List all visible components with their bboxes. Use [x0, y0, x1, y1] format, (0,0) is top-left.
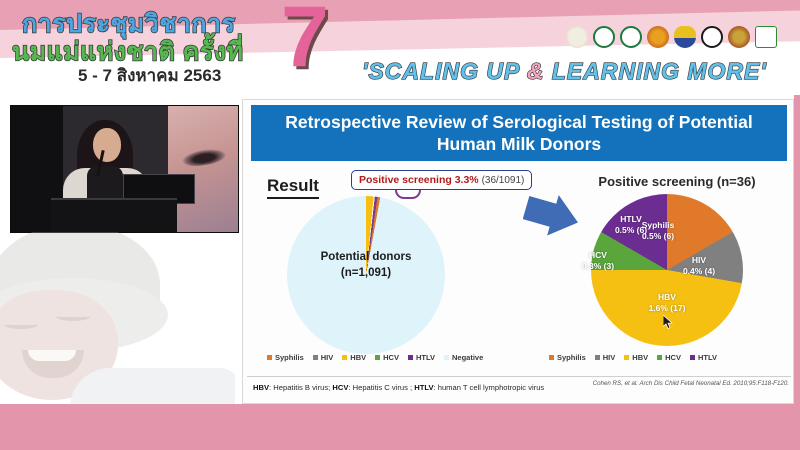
legend2-swatch-htlv: [690, 355, 695, 360]
legend-item-htlv: HTLV: [408, 353, 435, 362]
logo-garuda-emblem-icon: [674, 26, 696, 48]
footnote-hbv-text: : Hepatitis B virus;: [269, 383, 332, 392]
baby-eye-right: [56, 312, 90, 321]
presenter-video-feed[interactable]: [10, 105, 239, 233]
blue-arrow-icon: [523, 192, 581, 238]
legend2-item-syphilis: Syphilis: [549, 353, 586, 362]
legend2-swatch-syphilis: [549, 355, 554, 360]
baby-watermark-image: [0, 232, 235, 428]
video-projected-screen: [168, 106, 238, 233]
pie-slice-label-hcv: HCV 0.3% (3): [573, 250, 623, 272]
footnote-htlv-text: : human T cell lymphotropic virus: [434, 383, 545, 392]
projected-eye-closeup: [181, 147, 227, 169]
legend2-item-hcv: HCV: [657, 353, 681, 362]
conference-header-banner: การประชุมวิชาการ นมแม่แห่งชาติ ครั้งที่ …: [0, 0, 800, 95]
conference-edition-number: 7: [281, 0, 329, 80]
slice-value-hiv: 0.4% (4): [671, 266, 727, 277]
callout-brace-icon: [395, 190, 421, 199]
tagline-part1: 'SCALING UP: [362, 58, 527, 84]
slice-name-hbv: HBV: [625, 292, 709, 303]
legend-item-syphilis: Syphilis: [267, 353, 304, 362]
legend-potential-donors: Syphilis HIV HBV HCV HTLV Negative: [267, 353, 483, 362]
legend-item-hbv: HBV: [342, 353, 366, 362]
logo-red-crest-icon: [728, 26, 750, 48]
slice-value-htlv: 0.5% (6): [603, 225, 659, 236]
legend-item-hiv: HIV: [313, 353, 334, 362]
legend-label-negative: Negative: [452, 353, 483, 362]
legend-label-hiv: HIV: [321, 353, 334, 362]
footnote-hcv-text: : Hepatitis C virus ;: [348, 383, 414, 392]
legend2-item-hbv: HBV: [624, 353, 648, 362]
footnote-hbv-label: HBV: [253, 383, 269, 392]
logo-green-health-1-icon: [593, 26, 615, 48]
logo-green-health-2-icon: [620, 26, 642, 48]
legend-positive-screening: Syphilis HIV HBV HCV HTLV: [549, 353, 717, 362]
legend-swatch-syphilis: [267, 355, 272, 360]
tagline-ampersand: &: [527, 58, 545, 84]
legend2-item-hiv: HIV: [595, 353, 616, 362]
legend-item-negative: Negative: [444, 353, 483, 362]
legend-swatch-hbv: [342, 355, 347, 360]
podium: [51, 198, 177, 233]
positive-screening-callout: Positive screening 3.3% (36/1091): [351, 170, 532, 190]
positive-screening-pie-title: Positive screening (n=36): [561, 174, 793, 189]
slice-name-hcv: HCV: [573, 250, 623, 261]
footnote-htlv-label: HTLV: [414, 383, 433, 392]
legend-swatch-hcv: [375, 355, 380, 360]
logo-orange-emblem-icon: [647, 26, 669, 48]
conference-tagline: 'SCALING UP & LEARNING MORE': [362, 58, 767, 85]
potential-donors-title: Potential donors: [287, 250, 445, 266]
presentation-slide: Retrospective Review of Serological Test…: [242, 99, 794, 404]
frame-right-pink: [794, 95, 800, 450]
legend2-swatch-hcv: [657, 355, 662, 360]
slice-name-hiv: HIV: [671, 255, 727, 266]
callout-fraction: (36/1091): [482, 175, 525, 186]
potential-donors-subtitle: (n=1,091): [287, 266, 445, 282]
footnote-hcv-label: HCV: [332, 383, 348, 392]
slide-title: Retrospective Review of Serological Test…: [251, 105, 787, 161]
pie-slice-label-htlv: HTLV 0.5% (6): [603, 214, 659, 236]
callout-text: Positive screening 3.3%: [359, 174, 479, 186]
pie-slice-label-hbv: HBV 1.6% (17): [625, 292, 709, 314]
logo-thaihealth-sss-icon: [755, 26, 777, 48]
result-heading: Result: [267, 176, 319, 199]
slice-value-hbv: 1.6% (17): [625, 303, 709, 314]
legend-label-hbv: HBV: [350, 353, 366, 362]
legend-swatch-hiv: [313, 355, 318, 360]
presenter-face: [93, 128, 121, 162]
slice-name-htlv: HTLV: [603, 214, 659, 225]
legend-label-syphilis: Syphilis: [275, 353, 304, 362]
legend2-label-htlv: HTLV: [698, 353, 717, 362]
legend-swatch-htlv: [408, 355, 413, 360]
legend2-label-hcv: HCV: [665, 353, 681, 362]
legend-swatch-negative: [444, 355, 449, 360]
legend-label-hcv: HCV: [383, 353, 399, 362]
potential-donors-pie-label: Potential donors (n=1,091): [287, 250, 445, 281]
legend2-label-hiv: HIV: [603, 353, 616, 362]
frame-bottom-pink: [0, 404, 800, 450]
pie-slice-label-hiv: HIV 0.4% (4): [671, 255, 727, 277]
logo-black-circle-icon: [701, 26, 723, 48]
mouse-cursor-icon: [663, 315, 674, 330]
legend2-swatch-hbv: [624, 355, 629, 360]
legend2-label-syphilis: Syphilis: [557, 353, 586, 362]
baby-eye-left: [4, 320, 38, 329]
legend2-item-htlv: HTLV: [690, 353, 717, 362]
legend-label-htlv: HTLV: [416, 353, 435, 362]
slide-citation: Cohen RS, et al. Arch Dis Child Fetal Ne…: [593, 380, 789, 387]
slice-value-hcv: 0.3% (3): [573, 261, 623, 272]
logo-thai-royal-seal-icon: [566, 26, 588, 48]
sponsor-logos-row: [566, 26, 777, 48]
legend2-swatch-hiv: [595, 355, 600, 360]
tagline-part2: LEARNING MORE': [544, 58, 766, 84]
conference-date: 5 - 7 สิงหาคม 2563: [78, 62, 221, 89]
legend2-label-hbv: HBV: [632, 353, 648, 362]
legend-item-hcv: HCV: [375, 353, 399, 362]
baby-teeth: [28, 350, 76, 361]
slide-footnote: HBV: Hepatitis B virus; HCV: Hepatitis C…: [253, 383, 544, 392]
